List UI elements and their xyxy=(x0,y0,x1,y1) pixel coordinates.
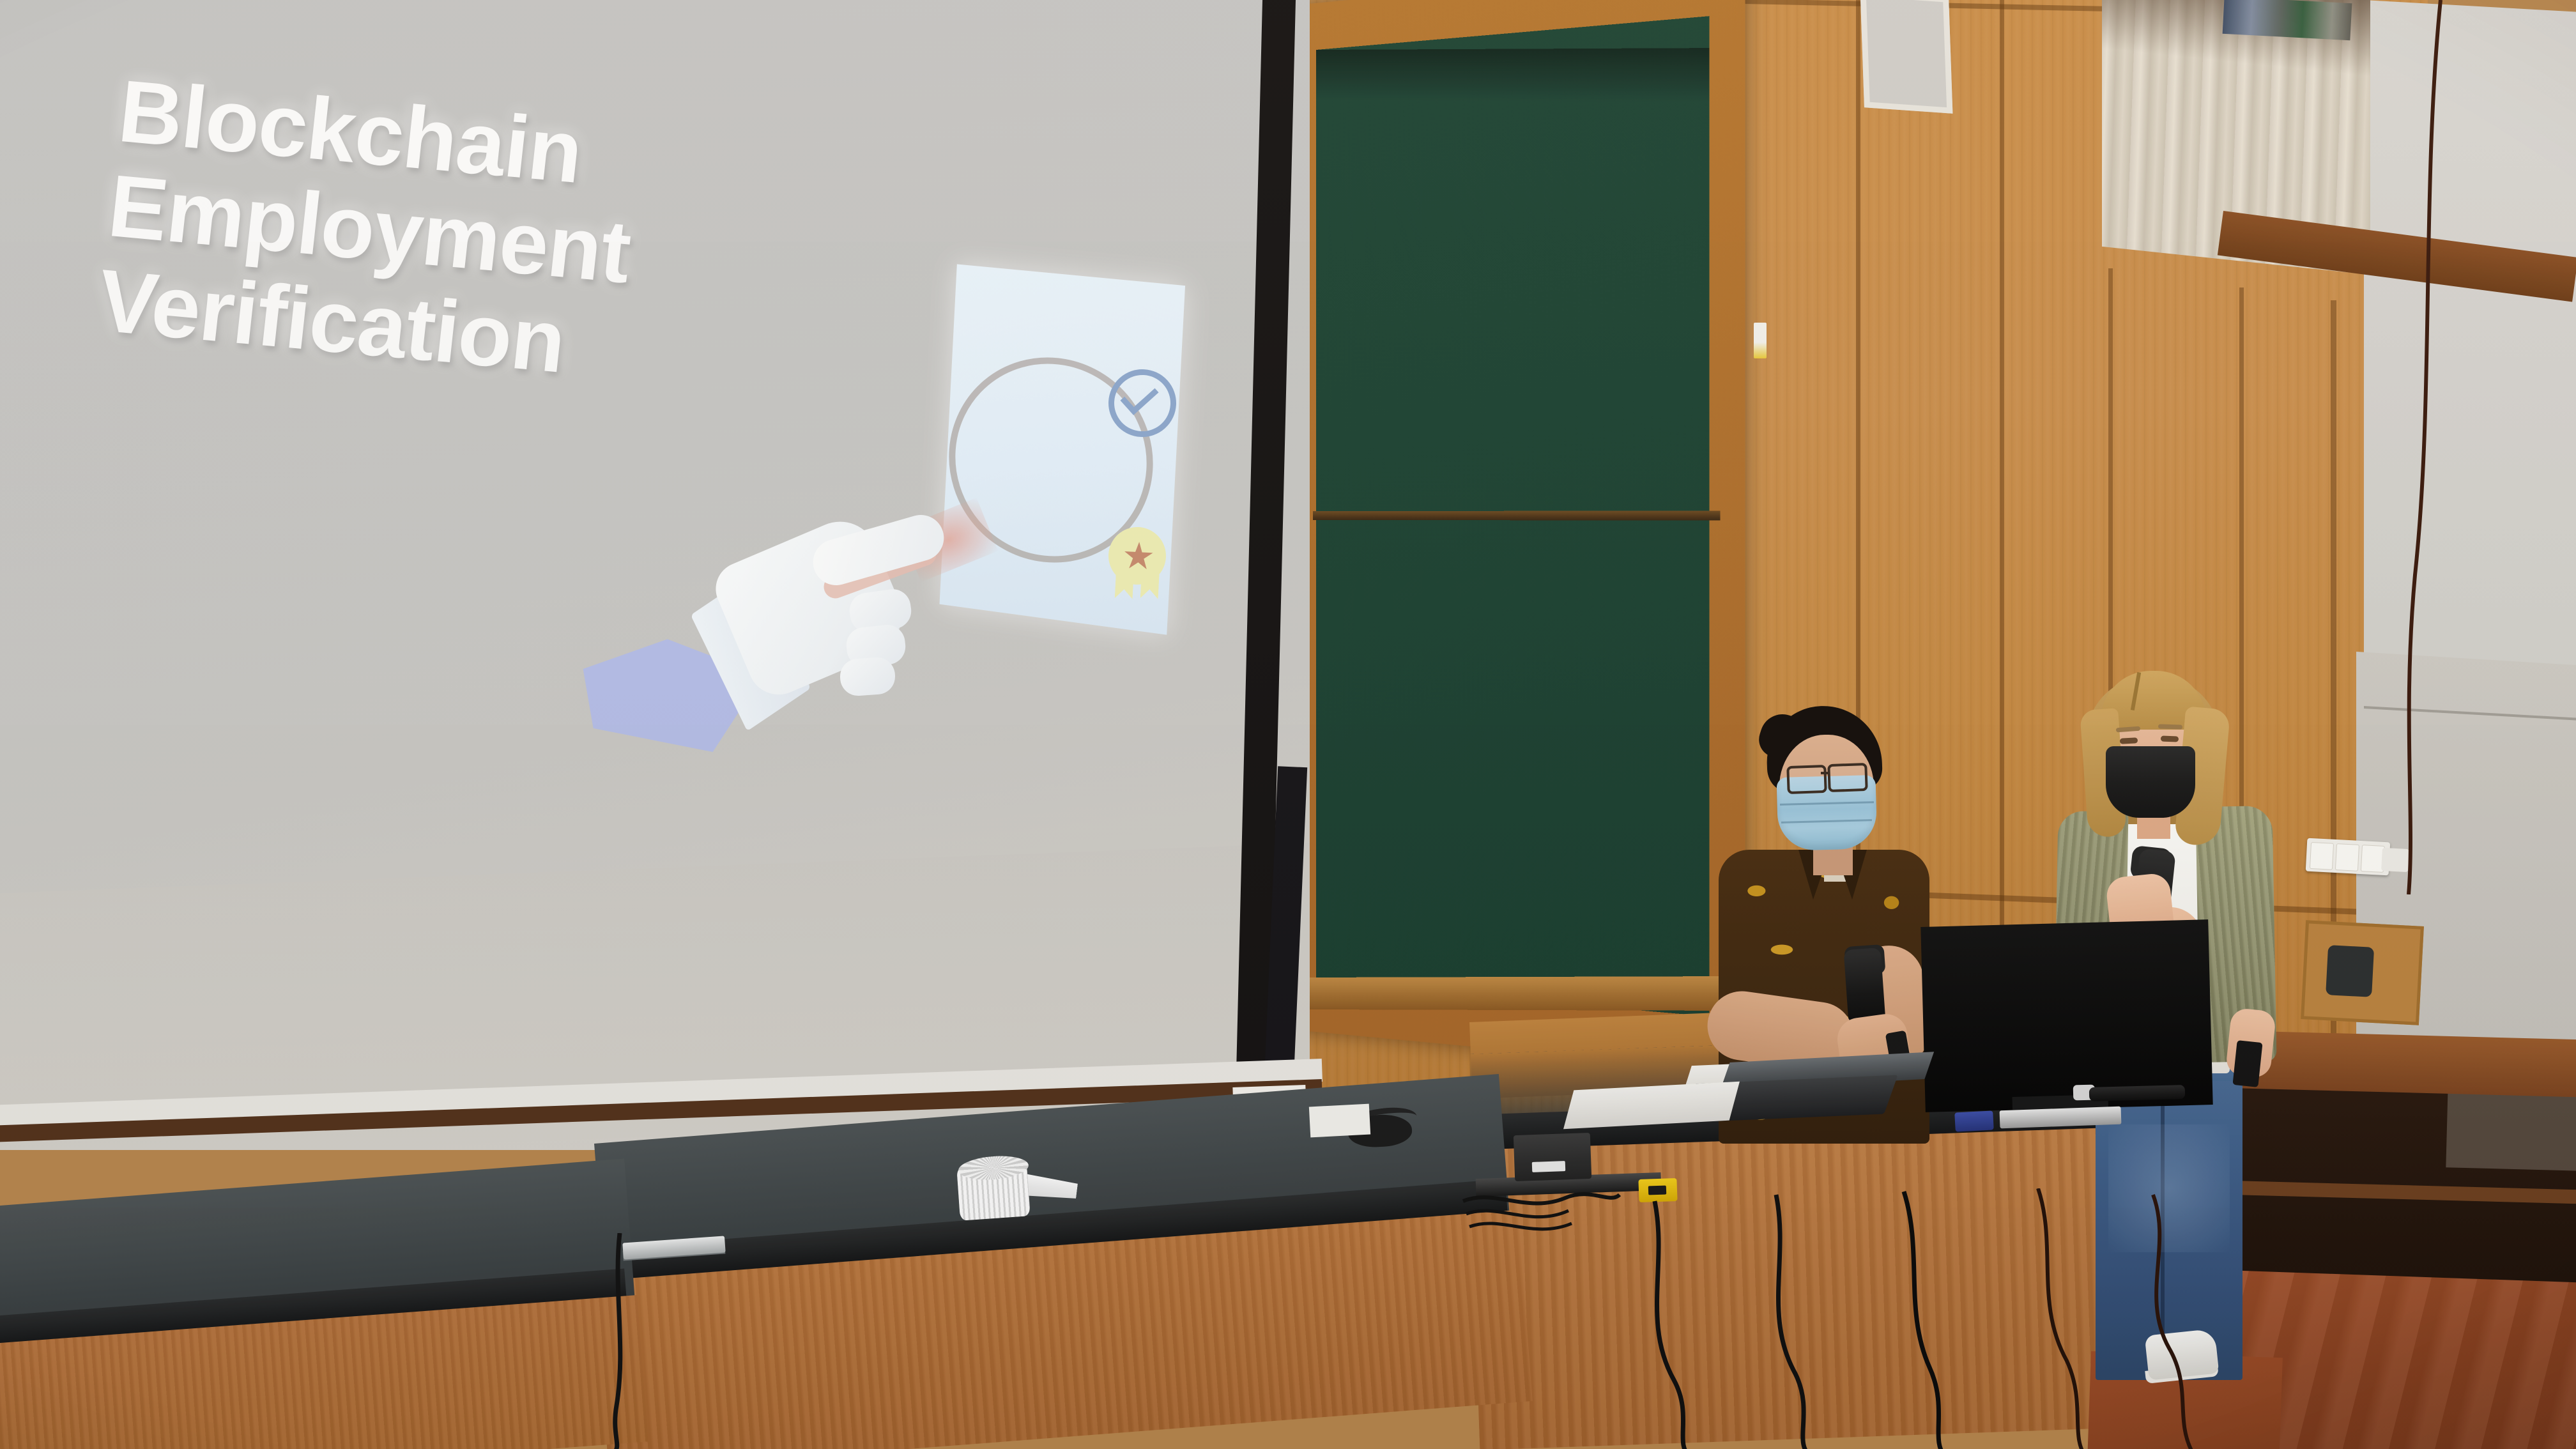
av-switcher[interactable] xyxy=(1514,1133,1591,1181)
desk-cable-bundle xyxy=(1457,1176,1623,1252)
side-table-panel xyxy=(2446,1084,2576,1170)
chalkboard-sticker xyxy=(1754,323,1767,358)
ceiling-vent-panel xyxy=(1860,0,1953,114)
chalk-tray xyxy=(1303,976,1724,1011)
wall-port-socket[interactable] xyxy=(2326,945,2374,997)
eye-right xyxy=(2161,736,2179,742)
monitor[interactable] xyxy=(1920,919,2212,1112)
av-switcher-label xyxy=(1532,1161,1566,1172)
light-switch[interactable] xyxy=(2335,843,2359,871)
stage-cable xyxy=(607,1233,722,1449)
projection-screen: Blockchain Employment Verification ★ xyxy=(0,0,1310,1150)
cloth-mask xyxy=(2106,746,2195,818)
chalkboard-divider xyxy=(1313,510,1720,520)
eyeglasses-bridge xyxy=(1821,772,1830,774)
eyebrow-right xyxy=(2158,724,2182,729)
light-switch[interactable] xyxy=(2310,842,2334,870)
hand-finger xyxy=(839,656,896,697)
wall-cable xyxy=(2364,0,2466,894)
wall-port-panel[interactable] xyxy=(2301,920,2424,1025)
eyeglasses-right-lens xyxy=(1827,763,1867,792)
spare-microphone[interactable] xyxy=(2089,1085,2186,1101)
eyeglasses-left-lens xyxy=(1786,765,1827,794)
chalkboard-shadow xyxy=(1316,48,1709,103)
cables xyxy=(1629,1188,2204,1449)
wood-panel-seam xyxy=(2000,0,2004,1086)
shelf-clutter xyxy=(2223,0,2352,40)
wall-notice-paper xyxy=(1309,1104,1370,1138)
blue-device[interactable] xyxy=(1954,1110,1993,1131)
lecture-hall-photo: Blockchain Employment Verification ★ xyxy=(0,0,2576,1449)
eye-left xyxy=(2120,737,2138,744)
star-glyph-icon: ★ xyxy=(1121,537,1156,576)
blue-device[interactable] xyxy=(2232,1040,2262,1087)
